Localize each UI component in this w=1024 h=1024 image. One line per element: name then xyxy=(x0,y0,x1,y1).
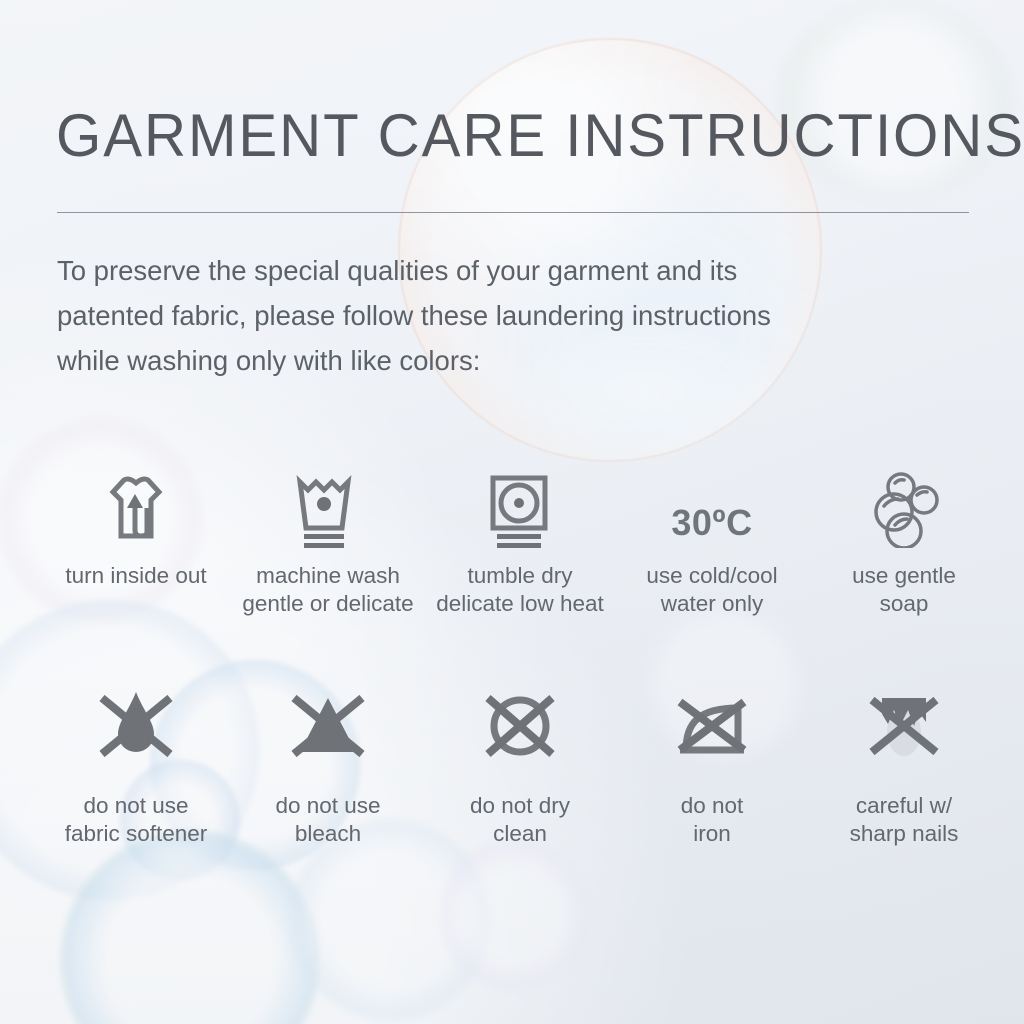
care-row-2: do not use fabric softener do not use bl… xyxy=(40,670,1000,848)
tshirt-turn-inside-out-icon xyxy=(97,470,175,548)
care-item-no-dry-clean: do not dry clean xyxy=(424,670,616,848)
caption-line-2: soap xyxy=(852,590,956,618)
intro-paragraph: To preserve the special qualities of you… xyxy=(57,248,937,383)
care-caption: do not use bleach xyxy=(275,792,380,848)
intro-line-3: while washing only with like colors: xyxy=(57,338,937,383)
caption-line-1: tumble dry xyxy=(436,562,604,590)
caption-line-1: do not xyxy=(681,792,744,820)
page-title: GARMENT CARE INSTRUCTIONS xyxy=(56,102,948,170)
care-item-turn-inside-out: turn inside out xyxy=(40,470,232,590)
tumble-dry-low-icon xyxy=(485,470,555,548)
temperature-value: 30ºC xyxy=(671,498,752,548)
care-caption: do not dry clean xyxy=(470,792,570,848)
care-caption: turn inside out xyxy=(65,562,206,590)
intro-line-2: patented fabric, please follow these lau… xyxy=(57,293,937,338)
care-caption: tumble dry delicate low heat xyxy=(436,562,604,618)
machine-wash-gentle-icon xyxy=(292,470,364,548)
soap-bubbles-icon xyxy=(864,470,944,548)
caption-line-2: bleach xyxy=(275,820,380,848)
no-bleach-icon xyxy=(280,670,376,770)
caption-line-1: turn inside out xyxy=(65,562,206,590)
care-caption: do not iron xyxy=(681,792,744,848)
no-iron-icon xyxy=(664,670,760,770)
no-fabric-softener-icon xyxy=(88,670,184,770)
no-dry-clean-icon xyxy=(472,670,568,770)
care-caption: careful w/ sharp nails xyxy=(850,792,959,848)
care-caption: use cold/cool water only xyxy=(646,562,777,618)
caption-line-2: fabric softener xyxy=(65,820,208,848)
caption-line-2: delicate low heat xyxy=(436,590,604,618)
caption-line-1: do not dry xyxy=(470,792,570,820)
caption-line-1: use gentle xyxy=(852,562,956,590)
title-divider xyxy=(57,212,969,213)
caption-line-2: gentle or delicate xyxy=(242,590,413,618)
caption-line-1: machine wash xyxy=(242,562,413,590)
garment-care-poster: GARMENT CARE INSTRUCTIONS To preserve th… xyxy=(0,0,1024,1024)
care-item-no-fabric-softener: do not use fabric softener xyxy=(40,670,232,848)
care-item-tumble-dry: tumble dry delicate low heat xyxy=(424,470,616,618)
care-item-gentle-soap: use gentle soap xyxy=(808,470,1000,618)
careful-sharp-nails-icon xyxy=(856,670,952,770)
caption-line-2: iron xyxy=(681,820,744,848)
care-caption: use gentle soap xyxy=(852,562,956,618)
care-item-no-bleach: do not use bleach xyxy=(232,670,424,848)
caption-line-1: do not use xyxy=(275,792,380,820)
care-row-1: turn inside out machine wash gentle or d… xyxy=(40,470,1000,618)
caption-line-1: do not use xyxy=(65,792,208,820)
care-item-machine-wash: machine wash gentle or delicate xyxy=(232,470,424,618)
temperature-label: 30ºC xyxy=(671,470,752,548)
care-caption: do not use fabric softener xyxy=(65,792,208,848)
care-item-careful-sharp-nails: careful w/ sharp nails xyxy=(808,670,1000,848)
care-item-cold-water: 30ºC use cold/cool water only xyxy=(616,470,808,618)
caption-line-1: use cold/cool xyxy=(646,562,777,590)
caption-line-2: water only xyxy=(646,590,777,618)
care-caption: machine wash gentle or delicate xyxy=(242,562,413,618)
care-item-no-iron: do not iron xyxy=(616,670,808,848)
caption-line-2: clean xyxy=(470,820,570,848)
caption-line-1: careful w/ xyxy=(850,792,959,820)
intro-line-1: To preserve the special qualities of you… xyxy=(57,248,937,293)
caption-line-2: sharp nails xyxy=(850,820,959,848)
